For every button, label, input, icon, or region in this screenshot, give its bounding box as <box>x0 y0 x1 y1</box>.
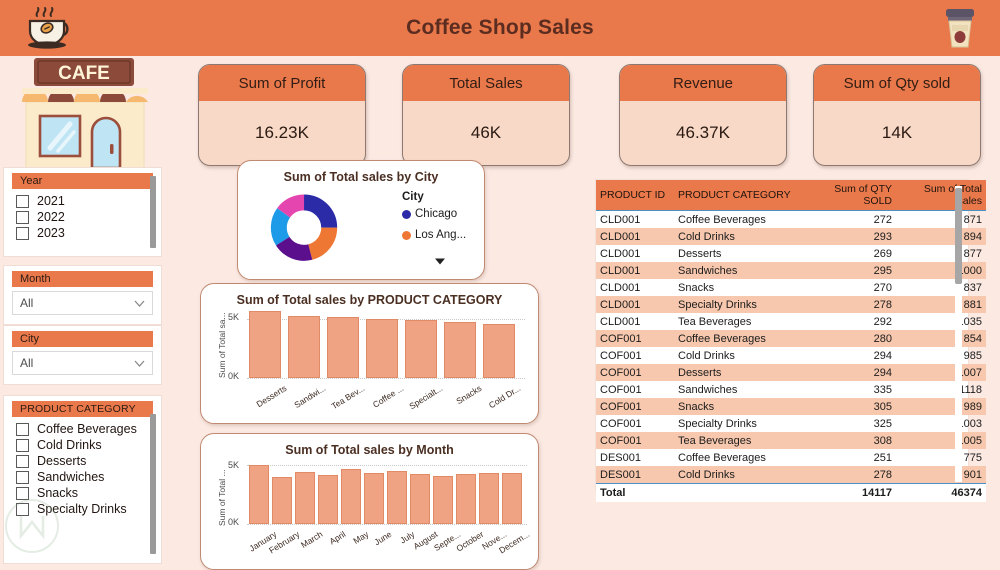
checkbox-icon[interactable] <box>16 227 29 240</box>
cell-qty-sold: 305 <box>800 398 896 415</box>
table-row[interactable]: CLD001Desserts269877 <box>596 245 986 262</box>
cafe-sign-text: CAFE <box>58 63 110 84</box>
cell-total-blank <box>674 484 800 502</box>
data-table-card[interactable]: PRODUCT ID PRODUCT CATEGORY Sum of QTY S… <box>596 180 968 490</box>
slicer-year-title: Year <box>12 173 153 189</box>
table-row[interactable]: COF001Coffee Beverages280854 <box>596 330 986 347</box>
legend-swatch <box>402 231 411 240</box>
slicer-city[interactable]: City All <box>4 326 161 384</box>
checkbox-icon[interactable] <box>16 487 29 500</box>
table-row[interactable]: COF001Cold Drinks294985 <box>596 347 986 364</box>
table-row[interactable]: DES001Coffee Beverages251775 <box>596 449 986 466</box>
cell-qty-sold: 295 <box>800 262 896 279</box>
cell-product-id: CLD001 <box>596 279 674 296</box>
cell-qty-sold: 278 <box>800 296 896 313</box>
table-row[interactable]: COF001Tea Beverages3081005 <box>596 432 986 449</box>
cell-product-id: CLD001 <box>596 245 674 262</box>
slicer-product-category-list: Coffee Beverages Cold Drinks Desserts Sa… <box>4 419 161 517</box>
kpi-card-sum-of-qty-sold[interactable]: Sum of Qty sold 14K <box>813 64 981 166</box>
table-row[interactable]: COF001Desserts2941007 <box>596 364 986 381</box>
column-header-product-id[interactable]: PRODUCT ID <box>596 180 674 211</box>
slicer-month-value: All <box>20 296 33 310</box>
slicer-item-snacks[interactable]: Snacks <box>4 485 161 501</box>
dashboard-root: Coffee Shop Sales CAFE <box>0 0 1000 563</box>
table-header-row: PRODUCT ID PRODUCT CATEGORY Sum of QTY S… <box>596 180 986 211</box>
table-row[interactable]: CLD001Cold Drinks293894 <box>596 228 986 245</box>
slicer-item-2022[interactable]: 2022 <box>4 209 161 225</box>
cell-qty-sold: 293 <box>800 228 896 245</box>
kpi-card-revenue[interactable]: Revenue 46.37K <box>619 64 787 166</box>
cell-product-id: COF001 <box>596 347 674 364</box>
plot-area-product-category <box>247 308 525 378</box>
cell-product-category: Desserts <box>674 245 800 262</box>
y-tick-0k-month: 0K <box>217 517 239 527</box>
table-row[interactable]: CLD001Specialty Drinks278881 <box>596 296 986 313</box>
cell-product-category: Tea Beverages <box>674 313 800 330</box>
y-tick-5k: 5K <box>217 312 239 322</box>
gridline-0k <box>247 378 525 379</box>
y-tick-5k-month: 5K <box>217 460 239 470</box>
checkbox-icon[interactable] <box>16 503 29 516</box>
slicer-item-label: Desserts <box>37 454 86 468</box>
legend-label: Los Ang... <box>415 229 466 241</box>
cell-product-id: COF001 <box>596 330 674 347</box>
cell-qty-sold: 269 <box>800 245 896 262</box>
cell-total-sales: 1000 <box>896 262 986 279</box>
bar-desserts[interactable] <box>249 311 281 378</box>
table-row[interactable]: COF001Specialty Drinks3251003 <box>596 415 986 432</box>
cell-product-category: Cold Drinks <box>674 228 800 245</box>
cell-total-sales: 854 <box>896 330 986 347</box>
chart-card-sales-by-month[interactable]: Sum of Total sales by Month Sum of Total… <box>200 433 539 570</box>
cell-total-sales: 871 <box>896 211 986 229</box>
bar-march[interactable] <box>295 472 315 524</box>
cell-qty-sold: 272 <box>800 211 896 229</box>
slicer-month[interactable]: Month All <box>4 266 161 324</box>
slicer-item-2023[interactable]: 2023 <box>4 225 161 241</box>
cell-qty-sold: 270 <box>800 279 896 296</box>
kpi-value: 46.37K <box>620 101 786 165</box>
slicer-year[interactable]: Year 2021 2022 2023 <box>4 168 161 256</box>
cell-product-category: Cold Drinks <box>674 466 800 484</box>
slicer-product-category-title: PRODUCT CATEGORY <box>12 401 153 417</box>
cell-qty-sold: 280 <box>800 330 896 347</box>
cell-qty-sold: 251 <box>800 449 896 466</box>
table-row[interactable]: COF001Sandwiches3351118 <box>596 381 986 398</box>
slicer-item-coffee-beverages[interactable]: Coffee Beverages <box>4 421 161 437</box>
cell-total-sales: 775 <box>896 449 986 466</box>
kpi-card-total-sales[interactable]: Total Sales 46K <box>402 64 570 166</box>
plot-area-month <box>247 456 527 524</box>
table-scrollbar-thumb[interactable] <box>955 188 962 284</box>
cell-total-sales: 877 <box>896 245 986 262</box>
takeaway-coffee-cup-icon <box>938 5 982 51</box>
table-row[interactable]: CLD001Tea Beverages2921035 <box>596 313 986 330</box>
table-row[interactable]: DES001Cold Drinks278901 <box>596 466 986 484</box>
slicer-item-label: 2022 <box>37 210 65 224</box>
cell-total-sales: 837 <box>896 279 986 296</box>
chart-card-sales-by-product-category[interactable]: Sum of Total sales by PRODUCT CATEGORY S… <box>200 283 539 424</box>
cell-product-category: Sandwiches <box>674 262 800 279</box>
cell-product-id: CLD001 <box>596 262 674 279</box>
column-header-product-category[interactable]: PRODUCT CATEGORY <box>674 180 800 211</box>
slicer-month-dropdown[interactable]: All <box>12 291 153 315</box>
cell-total-sales: 985 <box>896 347 986 364</box>
cell-product-id: CLD001 <box>596 313 674 330</box>
slicer-item-label: Coffee Beverages <box>37 422 137 436</box>
slicer-item-sandwiches[interactable]: Sandwiches <box>4 469 161 485</box>
cell-product-category: Sandwiches <box>674 381 800 398</box>
cell-product-category: Snacks <box>674 279 800 296</box>
gridline-0k-month <box>247 524 527 525</box>
slicer-item-label: Cold Drinks <box>37 438 102 452</box>
bar-cold-drinks[interactable] <box>483 324 515 378</box>
bar-coffee-beverages[interactable] <box>366 319 398 378</box>
bar-specialty-drinks[interactable] <box>405 320 437 378</box>
bar-may[interactable] <box>341 469 361 524</box>
slicer-item-label: Specialty Drinks <box>37 502 127 516</box>
cell-qty-sold: 294 <box>800 364 896 381</box>
cell-total-qty-sold: 14117 <box>800 484 896 502</box>
cell-total-sales: 1003 <box>896 415 986 432</box>
legend-swatch <box>402 210 411 219</box>
kpi-value: 16.23K <box>199 101 365 165</box>
slicer-product-category[interactable]: PRODUCT CATEGORY Coffee Beverages Cold D… <box>4 396 161 563</box>
slicer-item-2021[interactable]: 2021 <box>4 193 161 209</box>
slicer-city-dropdown[interactable]: All <box>12 351 153 375</box>
cell-product-category: Desserts <box>674 364 800 381</box>
legend-item-chicago[interactable]: Chicago <box>402 208 466 220</box>
legend-label: Chicago <box>415 208 457 220</box>
cell-product-id: CLD001 <box>596 296 674 313</box>
checkbox-icon[interactable] <box>16 439 29 452</box>
table-row[interactable]: CLD001Sandwiches2951000 <box>596 262 986 279</box>
cell-product-id: DES001 <box>596 449 674 466</box>
coffee-cup-icon <box>14 4 84 52</box>
kpi-label: Revenue <box>620 65 786 101</box>
cell-qty-sold: 278 <box>800 466 896 484</box>
table-total-row: Total 14117 46374 <box>596 484 986 502</box>
chevron-down-icon[interactable] <box>134 360 145 367</box>
cell-product-id: CLD001 <box>596 228 674 245</box>
y-tick-0k: 0K <box>217 371 239 381</box>
cell-product-category: Coffee Beverages <box>674 211 800 229</box>
kpi-card-sum-of-profit[interactable]: Sum of Profit 16.23K <box>198 64 366 166</box>
cell-product-category: Coffee Beverages <box>674 449 800 466</box>
cell-product-category: Tea Beverages <box>674 432 800 449</box>
filters-panel: Year 2021 2022 2023 Month All <box>0 168 165 563</box>
bar-november[interactable] <box>479 473 499 524</box>
slicer-item-specialty-drinks[interactable]: Specialty Drinks <box>4 501 161 517</box>
kpi-value: 14K <box>814 101 980 165</box>
cell-qty-sold: 292 <box>800 313 896 330</box>
cell-product-id: COF001 <box>596 432 674 449</box>
slicer-item-cold-drinks[interactable]: Cold Drinks <box>4 437 161 453</box>
kpi-label: Sum of Profit <box>199 65 365 101</box>
cell-product-id: COF001 <box>596 415 674 432</box>
cell-total-sales: 881 <box>896 296 986 313</box>
cell-total-total-sales: 46374 <box>896 484 986 502</box>
cell-qty-sold: 308 <box>800 432 896 449</box>
cell-total-label: Total <box>596 484 674 502</box>
kpi-value: 46K <box>403 101 569 165</box>
cell-product-id: COF001 <box>596 364 674 381</box>
cell-qty-sold: 294 <box>800 347 896 364</box>
chart-title-sales-by-month: Sum of Total sales by Month <box>201 434 538 457</box>
table-body: CLD001Coffee Beverages272871 CLD001Cold … <box>596 211 986 502</box>
bar-june[interactable] <box>364 473 384 524</box>
gridline-5k-month <box>247 465 527 466</box>
legend-expand-chevron-down-icon[interactable] <box>434 257 446 266</box>
data-table: PRODUCT ID PRODUCT CATEGORY Sum of QTY S… <box>596 180 986 502</box>
cell-product-category: Cold Drinks <box>674 347 800 364</box>
kpi-label: Sum of Qty sold <box>814 65 980 101</box>
cell-total-sales: 1118 <box>896 381 986 398</box>
cell-product-id: DES001 <box>596 466 674 484</box>
cell-total-sales: 989 <box>896 398 986 415</box>
table-row[interactable]: CLD001Snacks270837 <box>596 279 986 296</box>
slicer-item-label: 2021 <box>37 194 65 208</box>
bar-january[interactable] <box>249 465 269 524</box>
checkbox-icon[interactable] <box>16 471 29 484</box>
y-axis-title-product-category: Sum of Total sa... <box>217 312 227 378</box>
slicer-year-list: 2021 2022 2023 <box>4 191 161 241</box>
bar-sandwiches[interactable] <box>288 316 320 378</box>
kpi-label: Total Sales <box>403 65 569 101</box>
slicer-product-category-scrollbar[interactable] <box>150 414 156 554</box>
bar-april[interactable] <box>318 475 338 524</box>
chevron-down-icon[interactable] <box>134 300 145 307</box>
donut-chart-sales-by-city[interactable] <box>256 189 352 273</box>
cell-qty-sold: 325 <box>800 415 896 432</box>
cell-product-id: COF001 <box>596 398 674 415</box>
cell-product-category: Coffee Beverages <box>674 330 800 347</box>
header-bar: Coffee Shop Sales <box>0 0 1000 56</box>
column-header-qty-sold[interactable]: Sum of QTY SOLD <box>800 180 896 211</box>
bar-december[interactable] <box>502 473 522 524</box>
chart-card-sales-by-city[interactable]: Sum of Total sales by City City Chicago <box>237 160 485 280</box>
bar-tea-beverages[interactable] <box>327 317 359 378</box>
page-title: Coffee Shop Sales <box>0 0 1000 56</box>
cell-product-category: Specialty Drinks <box>674 415 800 432</box>
cell-total-sales: 1007 <box>896 364 986 381</box>
cafe-storefront-illustration: CAFE <box>6 56 164 168</box>
cell-product-id: CLD001 <box>596 211 674 229</box>
cell-total-sales: 894 <box>896 228 986 245</box>
bar-snacks[interactable] <box>444 322 476 378</box>
chart-legend-city: City Chicago Los Ang... <box>402 191 466 250</box>
checkbox-icon[interactable] <box>16 195 29 208</box>
legend-title: City <box>402 191 466 203</box>
slicer-item-label: Snacks <box>37 486 78 500</box>
bar-july[interactable] <box>387 471 407 524</box>
slicer-month-title: Month <box>12 271 153 287</box>
slicer-item-desserts[interactable]: Desserts <box>4 453 161 469</box>
slicer-item-label: 2023 <box>37 226 65 240</box>
checkbox-icon[interactable] <box>16 211 29 224</box>
bar-september[interactable] <box>433 476 453 524</box>
cell-total-sales: 1005 <box>896 432 986 449</box>
chart-title-sales-by-city: Sum of Total sales by City <box>238 161 484 184</box>
cell-total-sales: 1035 <box>896 313 986 330</box>
slicer-year-scrollbar[interactable] <box>150 176 156 248</box>
table-row[interactable]: CLD001Coffee Beverages272871 <box>596 211 986 229</box>
column-header-total-sales[interactable]: Sum of Total sales <box>896 180 986 211</box>
slicer-city-title: City <box>12 331 153 347</box>
cell-qty-sold: 335 <box>800 381 896 398</box>
table-row[interactable]: COF001Snacks305989 <box>596 398 986 415</box>
cell-product-id: COF001 <box>596 381 674 398</box>
bar-february[interactable] <box>272 477 292 524</box>
cell-total-sales: 901 <box>896 466 986 484</box>
slicer-city-value: All <box>20 356 33 370</box>
chart-title-sales-by-product-category: Sum of Total sales by PRODUCT CATEGORY <box>201 284 538 307</box>
bar-october[interactable] <box>456 474 476 524</box>
cell-product-category: Snacks <box>674 398 800 415</box>
checkbox-icon[interactable] <box>16 423 29 436</box>
legend-item-los-angeles[interactable]: Los Ang... <box>402 229 466 241</box>
cell-product-category: Specialty Drinks <box>674 296 800 313</box>
bar-august[interactable] <box>410 474 430 524</box>
checkbox-icon[interactable] <box>16 455 29 468</box>
slicer-item-label: Sandwiches <box>37 470 104 484</box>
